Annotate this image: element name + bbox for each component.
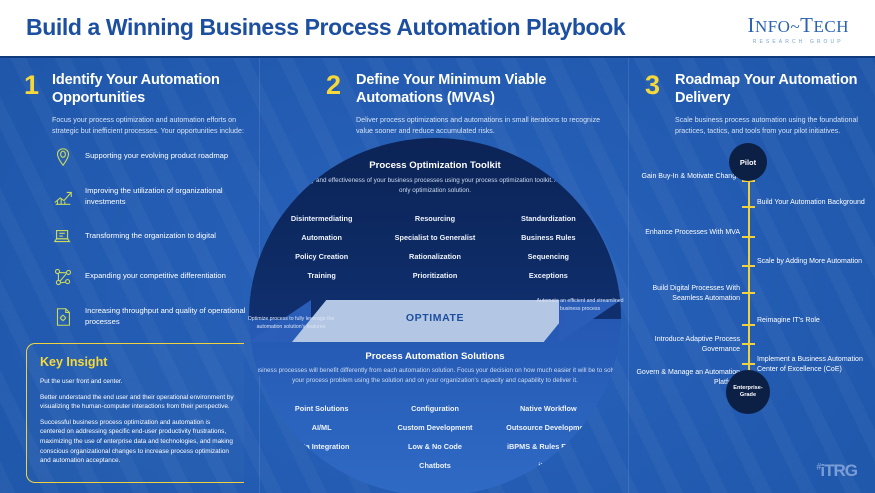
column-divider-2	[628, 58, 629, 493]
wheel-item: Automation	[265, 233, 378, 242]
optimate-wheel: Process Optimization Toolkit Improve the…	[249, 138, 621, 493]
itrg-logo: #iTRG	[816, 461, 857, 481]
opportunity-item: Increasing throughput and quality of ope…	[52, 300, 252, 333]
growth-chart-icon	[52, 185, 74, 209]
wheel-item: Configuration	[378, 404, 491, 413]
opportunity-label: Increasing throughput and quality of ope…	[85, 306, 252, 328]
wheel-item: Prioritization	[378, 271, 491, 280]
itrg-text: iTRG	[820, 461, 857, 480]
logo-ech: ECH	[814, 17, 850, 36]
band-caption-right: Automate an efficient and streamlined bu…	[531, 298, 629, 313]
roadmap-timeline: Pilot Enterprise-Grade Gain Buy-In & Mot…	[645, 140, 870, 410]
roadmap-tick	[742, 206, 755, 208]
roadmap-tick	[742, 343, 755, 345]
section-3-number: 3	[645, 72, 660, 99]
opportunity-item: Expanding your competitive differentiati…	[52, 260, 252, 293]
roadmap-step-left: Enhance Processes With MVA	[635, 228, 740, 238]
page-header: Build a Winning Business Process Automat…	[0, 0, 875, 58]
toolkit-description: Improve the efficiency and effectiveness…	[249, 176, 621, 196]
roadmap-step-right: Build Your Automation Background	[757, 198, 867, 208]
wheel-item: Custom Development	[378, 423, 491, 432]
roadmap-node-enterprise: Enterprise-Grade	[726, 370, 770, 414]
opportunity-label: Improving the utilization of organizatio…	[85, 186, 252, 208]
wheel-item: iBPMS & Rules Engines	[492, 442, 605, 451]
roadmap-step-right: Scale by Adding More Automation	[757, 257, 867, 267]
opportunity-item: Transforming the organization to digital	[52, 220, 252, 253]
solutions-description: Business processes will benefit differen…	[249, 366, 621, 386]
roadmap-step-left: Introduce Adaptive Process Governance	[635, 335, 740, 355]
wheel-item: iPaaS	[492, 461, 605, 470]
optimate-band: OPTIMATE Optimize process to fully lever…	[249, 298, 621, 344]
roadmap-step-right: Reimagine IT's Role	[757, 316, 867, 326]
wheel-item: Sequencing	[492, 252, 605, 261]
laptop-digital-icon	[52, 225, 74, 249]
roadmap-tick	[742, 265, 755, 267]
opportunity-list: Supporting your evolving product roadmap…	[52, 140, 252, 340]
band-caption-left: Optimize process to fully leverage the a…	[243, 316, 339, 331]
section-3-header: 3 Roadmap Your Automation Delivery Scale…	[645, 72, 865, 136]
wheel-item: Rationalization	[378, 252, 491, 261]
logo-nfo: NFO~	[755, 17, 800, 36]
section-2-header: 2 Define Your Minimum Viable Automations…	[326, 72, 616, 136]
solutions-item-grid: Point SolutionsConfigurationNative Workf…	[265, 404, 605, 470]
infographic-page: Build a Winning Business Process Automat…	[0, 0, 875, 493]
wheel-item: Standardization	[492, 214, 605, 223]
network-nodes-icon	[52, 265, 74, 289]
wheel-item: Exceptions	[492, 271, 605, 280]
roadmap-step-left: Build Digital Processes With Seamless Au…	[635, 284, 740, 304]
opportunity-item: Supporting your evolving product roadmap	[52, 140, 252, 173]
toolkit-title: Process Optimization Toolkit	[249, 160, 621, 171]
key-insight-paragraph: Successful business process optimization…	[40, 418, 234, 466]
roadmap-node-pilot: Pilot	[729, 143, 767, 181]
section-2-number: 2	[326, 72, 341, 99]
roadmap-step-right: Implement a Business Automation Center o…	[757, 355, 867, 375]
wheel-item: Outsource Development	[492, 423, 605, 432]
opportunity-label: Supporting your evolving product roadmap	[85, 151, 228, 162]
wheel-item: Training	[265, 271, 378, 280]
opportunity-item: Improving the utilization of organizatio…	[52, 180, 252, 213]
wheel-item: Resourcing	[378, 214, 491, 223]
opportunity-label: Expanding your competitive differentiati…	[85, 271, 226, 282]
section-1-header: 1 Identify Your Automation Opportunities…	[24, 72, 249, 136]
roadmap-spine	[748, 164, 750, 380]
wheel-item: Business Rules	[492, 233, 605, 242]
section-3-title: Roadmap Your Automation Delivery	[675, 72, 865, 107]
wheel-item: Data Integration	[265, 442, 378, 451]
section-3-body: Scale business process automation using …	[675, 115, 865, 136]
toolkit-item-grid: DisintermediatingResourcingStandardizati…	[265, 214, 605, 280]
opportunity-label: Transforming the organization to digital	[85, 231, 216, 242]
key-insight-paragraph: Better understand the end user and their…	[40, 393, 234, 412]
wheel-item: AI/ML	[265, 423, 378, 432]
key-insight-title: Key Insight	[40, 355, 234, 369]
key-insight-paragraph: Put the user front and center.	[40, 377, 234, 387]
section-1-body: Focus your process optimization and auto…	[52, 115, 248, 136]
wheel-item: Disintermediating	[265, 214, 378, 223]
section-1-number: 1	[24, 72, 39, 99]
solutions-title: Process Automation Solutions	[249, 351, 621, 362]
wheel-item: Point Solutions	[265, 404, 378, 413]
logo-tagline: RESEARCH GROUP	[747, 39, 849, 45]
roadmap-step-left: Gain Buy-In & Motivate Change	[635, 172, 740, 182]
location-pin-icon	[52, 145, 74, 169]
key-insight-body: Put the user front and center.Better und…	[40, 377, 234, 466]
wheel-item: Native Workflow	[492, 404, 605, 413]
page-title: Build a Winning Business Process Automat…	[26, 14, 625, 41]
wheel-item: Policy Creation	[265, 252, 378, 261]
section-1-title: Identify Your Automation Opportunities	[52, 72, 249, 107]
roadmap-tick	[742, 292, 755, 294]
wheel-item: Low & No Code	[378, 442, 491, 451]
wheel-item: RPA	[265, 461, 378, 470]
roadmap-tick	[742, 363, 755, 365]
roadmap-step-left: Govern & Manage an Automation Platform	[635, 368, 740, 388]
section-2-title: Define Your Minimum Viable Automations (…	[356, 72, 616, 107]
logo-t: T	[800, 13, 813, 37]
logo-i: I	[747, 13, 755, 37]
info-tech-logo: INFO~TECH RESEARCH GROUP	[747, 15, 849, 45]
section-2-body: Deliver process optimizations and automa…	[356, 115, 611, 136]
wheel-item: Specialist to Generalist	[378, 233, 491, 242]
document-gear-icon	[52, 305, 74, 329]
wheel-item: Chatbots	[378, 461, 491, 470]
roadmap-tick	[742, 236, 755, 238]
key-insight-card: Key Insight Put the user front and cente…	[26, 343, 244, 483]
logo-wordmark: INFO~TECH	[747, 15, 849, 36]
roadmap-tick	[742, 324, 755, 326]
